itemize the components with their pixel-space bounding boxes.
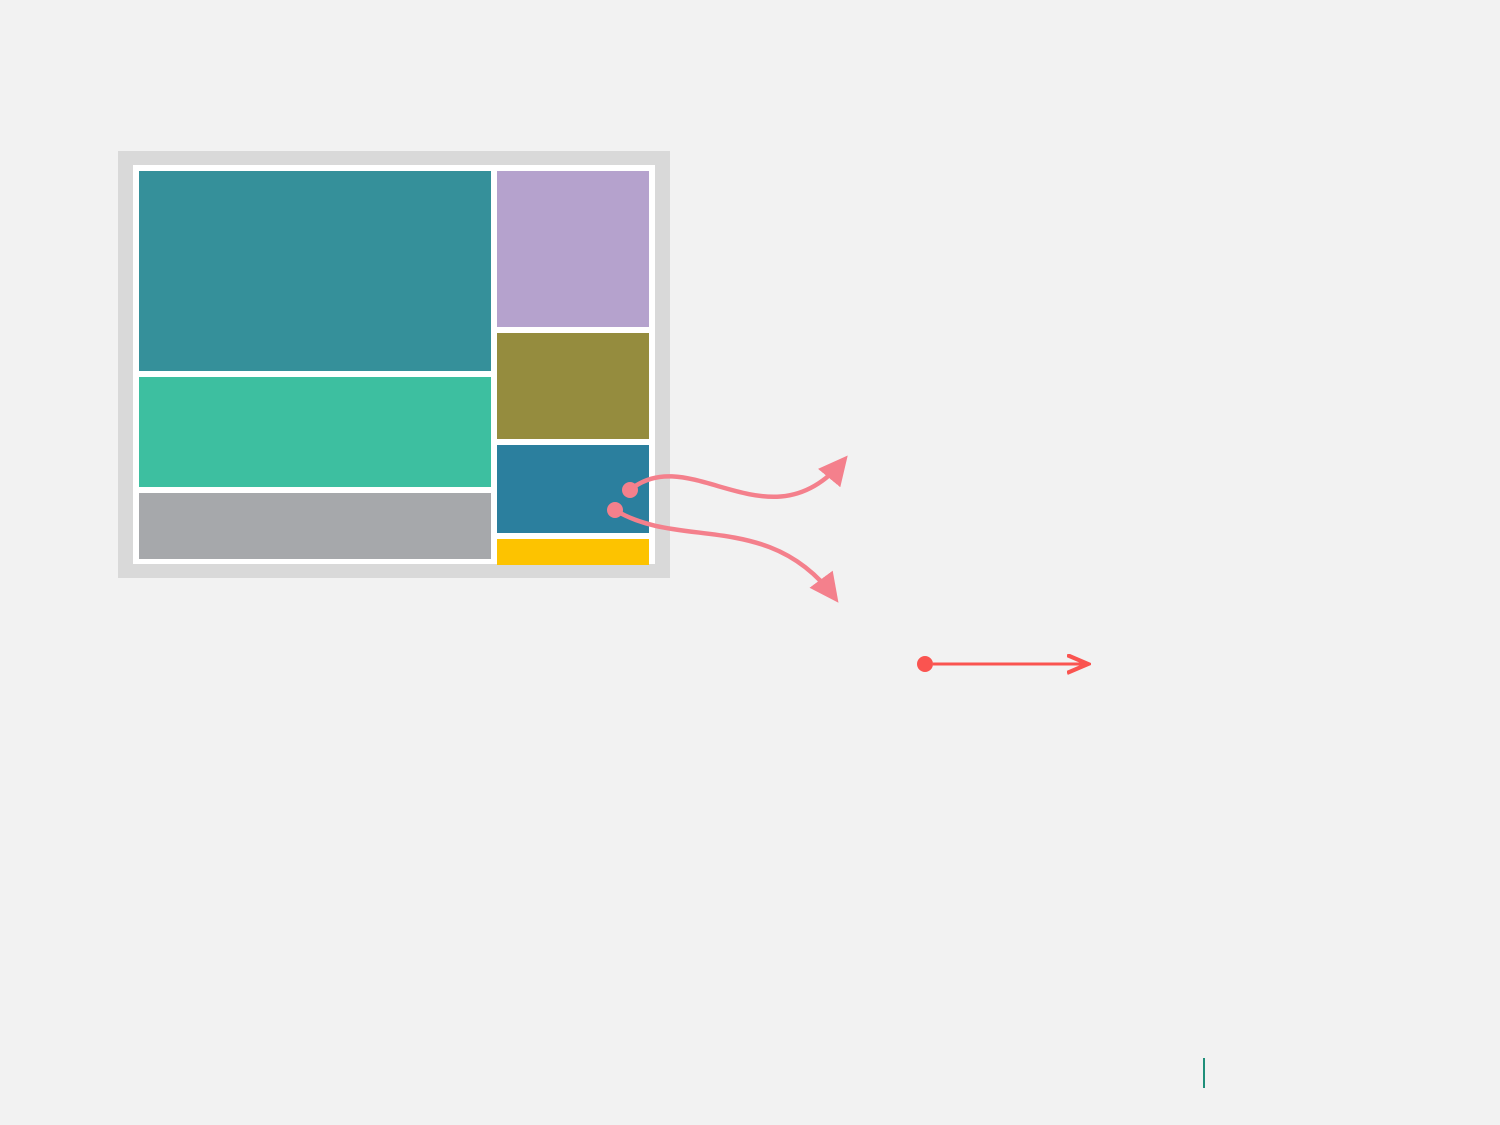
connector-dot-lower: [607, 502, 623, 518]
treemap-cell-indonesia[interactable]: [139, 171, 491, 371]
coal-exports-area-chart: [800, 630, 1480, 1020]
treemap-cell-russia[interactable]: [139, 493, 491, 559]
pie-chart: [760, 120, 1380, 590]
forecast-arrow-dot: [917, 656, 933, 672]
footer-divider: [1203, 1058, 1205, 1088]
treemap-chart: [118, 151, 670, 578]
coal-imports-area-chart: [30, 678, 760, 1013]
connector-dot-upper: [622, 482, 638, 498]
treemap-cell-australia[interactable]: [139, 377, 491, 487]
forecast-annotation: [917, 656, 1085, 672]
treemap-cell-rest-of-world[interactable]: [497, 171, 649, 327]
